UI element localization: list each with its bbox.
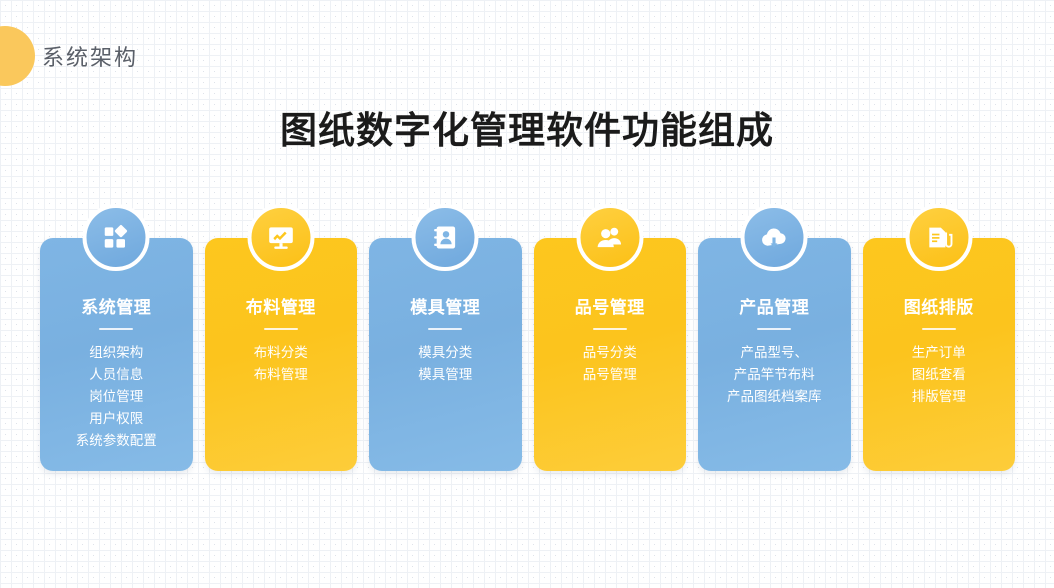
dashboard-grid-icon [83,204,150,271]
slide-canvas: 系统架构 图纸数字化管理软件功能组成 系统管理组织架构人员信息岗位管理用户权限系… [0,0,1054,588]
cloud-upload-icon [741,204,808,271]
feature-item: 产品型号、 [702,342,847,364]
feature-item: 产品图纸档案库 [702,386,847,408]
feature-item: 模具分类 [373,342,518,364]
feature-card-title: 图纸排版 [863,298,1016,318]
feature-item: 模具管理 [373,364,518,386]
feature-item: 图纸查看 [867,364,1012,386]
feature-item: 系统参数配置 [44,430,189,452]
kicker-accent-dot [0,26,35,86]
users-group-icon [576,204,643,271]
feature-item-list: 模具分类模具管理 [369,342,522,386]
feature-item-list: 布料分类布料管理 [205,342,358,386]
feature-item: 岗位管理 [44,386,189,408]
feature-item: 人员信息 [44,364,189,386]
feature-card-title: 产品管理 [698,298,851,318]
title-divider [757,328,791,330]
feature-item: 用户权限 [44,408,189,430]
feature-item: 排版管理 [867,386,1012,408]
document-ledger-icon [905,204,972,271]
feature-item: 品号分类 [538,342,683,364]
feature-item-list: 生产订单图纸查看排版管理 [863,342,1016,408]
feature-item-list: 组织架构人员信息岗位管理用户权限系统参数配置 [40,342,193,451]
title-divider [922,328,956,330]
feature-card-row: 系统管理组织架构人员信息岗位管理用户权限系统参数配置布料管理布料分类布料管理模具… [40,238,1015,471]
feature-card[interactable]: 产品管理产品型号、产品竿节布料产品图纸档案库 [698,238,851,471]
page-title: 图纸数字化管理软件功能组成 [0,100,1054,154]
title-divider [99,328,133,330]
feature-card[interactable]: 模具管理模具分类模具管理 [369,238,522,471]
title-divider [428,328,462,330]
title-divider [264,328,298,330]
feature-item: 布料分类 [209,342,354,364]
feature-card-title: 模具管理 [369,298,522,318]
feature-item: 品号管理 [538,364,683,386]
feature-card[interactable]: 布料管理布料分类布料管理 [205,238,358,471]
feature-item-list: 产品型号、产品竿节布料产品图纸档案库 [698,342,851,408]
feature-item: 产品竿节布料 [702,364,847,386]
feature-card[interactable]: 图纸排版生产订单图纸查看排版管理 [863,238,1016,471]
monitor-chart-icon [247,204,314,271]
feature-card-title: 系统管理 [40,298,193,318]
title-divider [593,328,627,330]
address-book-icon [412,204,479,271]
feature-item: 布料管理 [209,364,354,386]
feature-card-title: 布料管理 [205,298,358,318]
feature-card-title: 品号管理 [534,298,687,318]
feature-card[interactable]: 品号管理品号分类品号管理 [534,238,687,471]
feature-card[interactable]: 系统管理组织架构人员信息岗位管理用户权限系统参数配置 [40,238,193,471]
feature-item: 组织架构 [44,342,189,364]
kicker-label: 系统架构 [42,40,138,72]
feature-item-list: 品号分类品号管理 [534,342,687,386]
feature-item: 生产订单 [867,342,1012,364]
